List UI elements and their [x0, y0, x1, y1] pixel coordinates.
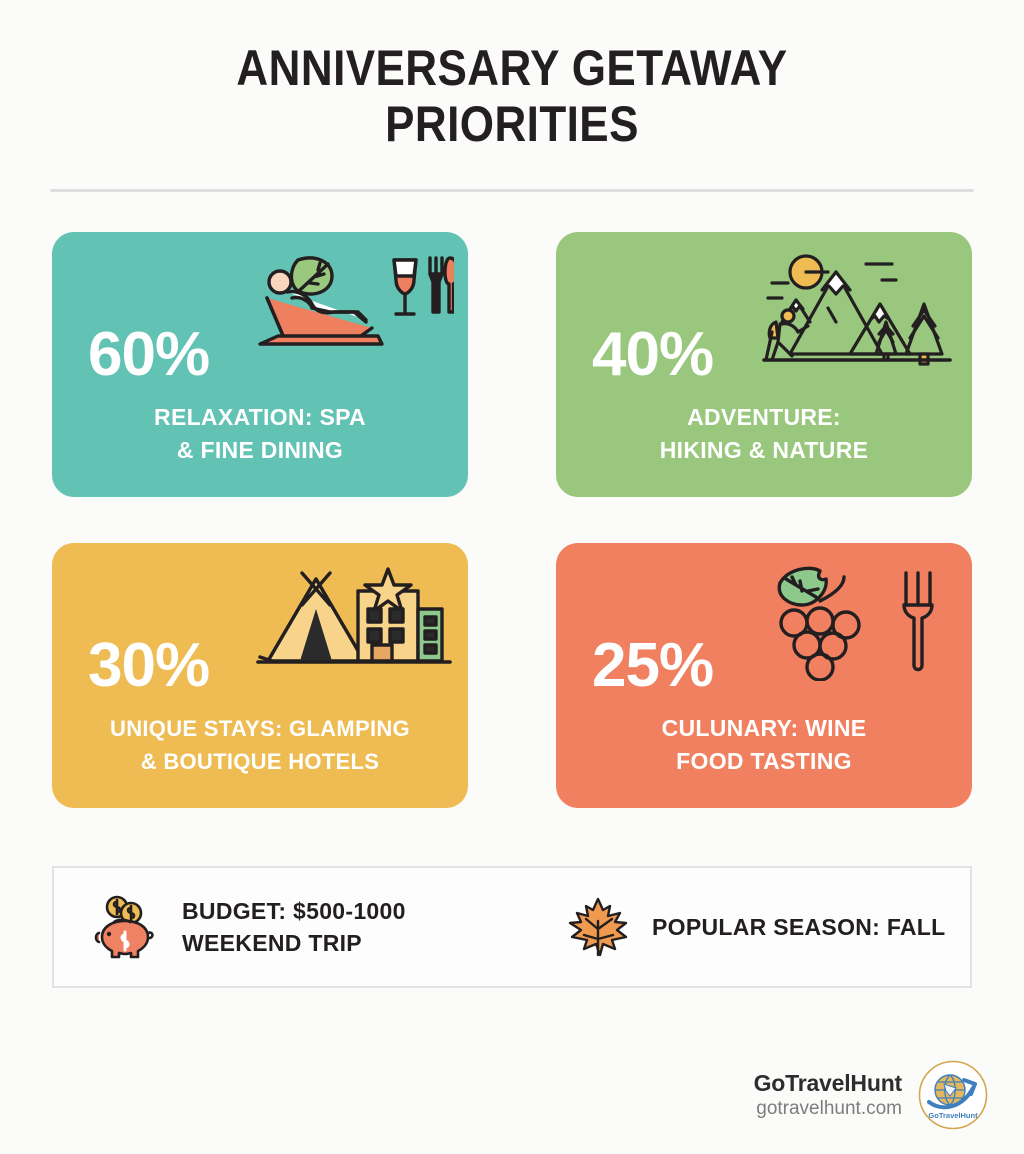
brand-url: gotravelhunt.com	[754, 1097, 902, 1121]
title-divider	[50, 189, 974, 192]
season-text: POPULAR SEASON: FALL	[652, 911, 946, 943]
budget-text: BUDGET: $500-1000 WEEKEND TRIP	[182, 895, 406, 959]
summary-info-bar: BUDGET: $500-1000 WEEKEND TRIP POPULAR S…	[52, 866, 972, 988]
card-label: RELAXATION: SPA & FINE DINING	[52, 401, 468, 467]
card-percent: 40%	[592, 324, 713, 386]
branding[interactable]: GoTravelHunt gotravelhunt.com GoTravelHu…	[754, 1058, 990, 1132]
card-label: UNIQUE STAYS: GLAMPING & BOUTIQUE HOTELS	[52, 712, 468, 778]
tent-hotel-icon	[254, 561, 454, 681]
logo-inner-text: GoTravelHunt	[928, 1111, 978, 1120]
card-label: CULUNARY: WINE FOOD TASTING	[556, 712, 972, 778]
card-culinary[interactable]: 25% CULUNARY: WINE FOOD TASTING	[556, 543, 972, 808]
priority-cards-grid: 60% RELAXATION: SPA & FINE DINING	[52, 232, 972, 808]
brand-name: GoTravelHunt	[754, 1069, 902, 1097]
globe-arrow-logo-icon: GoTravelHunt	[916, 1058, 990, 1132]
info-item-season: POPULAR SEASON: FALL	[562, 891, 946, 963]
info-item-budget: BUDGET: $500-1000 WEEKEND TRIP	[92, 891, 532, 963]
card-label: ADVENTURE: HIKING & NATURE	[556, 401, 972, 467]
card-percent: 60%	[88, 324, 209, 386]
card-relaxation[interactable]: 60% RELAXATION: SPA & FINE DINING	[52, 232, 468, 497]
brand-text-block: GoTravelHunt gotravelhunt.com	[754, 1069, 902, 1121]
card-adventure[interactable]: 40% ADVENTURE: HIKING & NATURE	[556, 232, 972, 497]
maple-leaf-icon	[562, 891, 634, 963]
card-unique-stays[interactable]: 30% UNIQUE STAYS: GLAMPING & BOUTIQUE HO…	[52, 543, 468, 808]
page-title-container: ANNIVERSARY GETAWAY PRIORITIES	[0, 40, 1024, 152]
piggy-bank-icon	[92, 891, 164, 963]
infographic-page: ANNIVERSARY GETAWAY PRIORITIES	[0, 0, 1024, 1154]
grapes-fork-icon	[758, 561, 958, 681]
spa-lounger-icon	[254, 250, 454, 370]
mountain-hiker-icon	[758, 250, 958, 370]
card-percent: 25%	[592, 635, 713, 697]
card-percent: 30%	[88, 635, 209, 697]
page-title: ANNIVERSARY GETAWAY PRIORITIES	[61, 40, 962, 152]
